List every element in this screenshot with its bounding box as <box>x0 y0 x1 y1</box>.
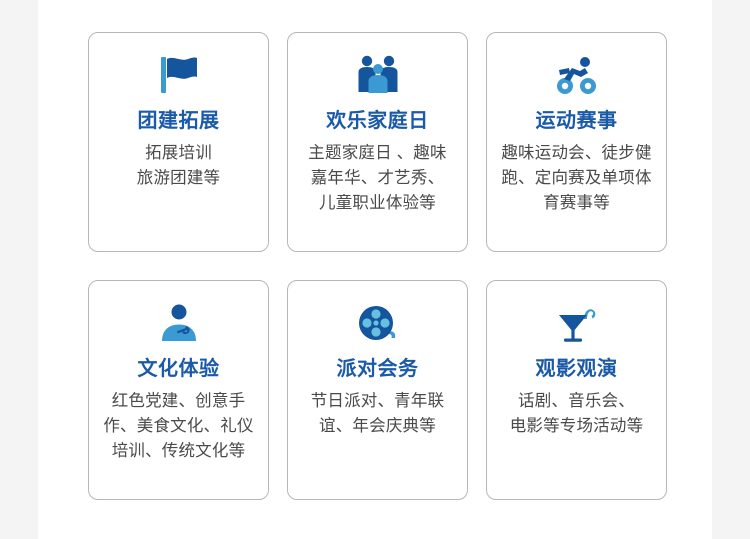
card-title: 观影观演 <box>536 355 618 383</box>
service-card-shows-movies[interactable]: 观影观演 话剧、音乐会、 电影等专场活动等 <box>486 280 667 500</box>
card-description: 趣味运动会、徒步健 跑、定向赛及单项体 育赛事等 <box>493 141 659 216</box>
card-description: 拓展培训 旅游团建等 <box>129 141 229 191</box>
card-title: 派对会务 <box>337 355 419 383</box>
card-title: 文化体验 <box>138 355 220 383</box>
cyclist-icon <box>549 51 605 101</box>
card-title: 团建拓展 <box>138 107 220 135</box>
party-member-icon <box>151 299 207 349</box>
film-reel-icon <box>350 299 406 349</box>
content-panel: 团建拓展 拓展培训 旅游团建等 欢乐家庭日 主题家庭日 、趣味 嘉年华、才艺秀、… <box>38 0 712 539</box>
card-description: 红色党建、创意手 作、美食文化、礼仪 培训、传统文化等 <box>95 389 261 464</box>
flag-icon <box>151 51 207 101</box>
card-title: 欢乐家庭日 <box>326 107 429 135</box>
card-description: 话剧、音乐会、 电影等专场活动等 <box>502 389 652 439</box>
service-card-grid: 团建拓展 拓展培训 旅游团建等 欢乐家庭日 主题家庭日 、趣味 嘉年华、才艺秀、… <box>88 32 668 500</box>
service-card-family-day[interactable]: 欢乐家庭日 主题家庭日 、趣味 嘉年华、才艺秀、 儿童职业体验等 <box>287 32 468 252</box>
service-card-culture-experience[interactable]: 文化体验 红色党建、创意手 作、美食文化、礼仪 培训、传统文化等 <box>88 280 269 500</box>
card-description: 主题家庭日 、趣味 嘉年华、才艺秀、 儿童职业体验等 <box>300 141 454 216</box>
service-card-party-events[interactable]: 派对会务 节日派对、青年联 谊、年会庆典等 <box>287 280 468 500</box>
card-description: 节日派对、青年联 谊、年会庆典等 <box>303 389 453 439</box>
service-card-team-building[interactable]: 团建拓展 拓展培训 旅游团建等 <box>88 32 269 252</box>
cocktail-icon <box>549 299 605 349</box>
service-card-sports-events[interactable]: 运动赛事 趣味运动会、徒步健 跑、定向赛及单项体 育赛事等 <box>486 32 667 252</box>
card-title: 运动赛事 <box>536 107 618 135</box>
family-icon <box>350 51 406 101</box>
